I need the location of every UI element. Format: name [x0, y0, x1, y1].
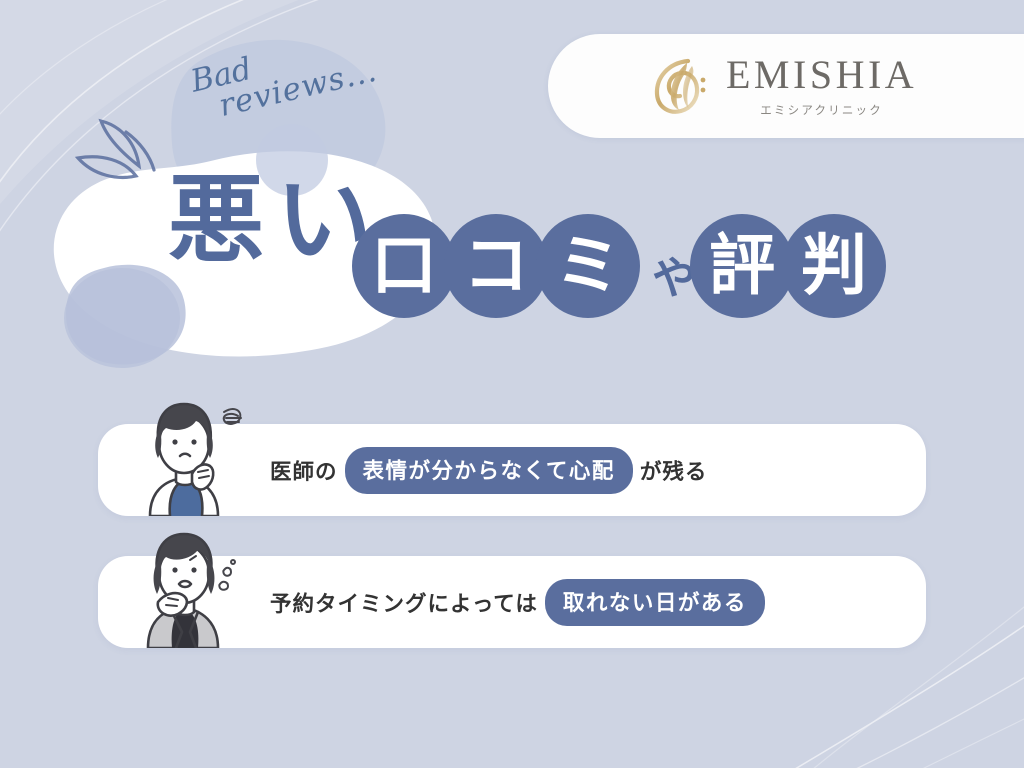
emishia-e-feather-icon [648, 54, 712, 118]
review-highlight-pill: 取れない日がある [545, 579, 765, 626]
review-text: 予約タイミングによっては 取れない日がある [270, 579, 772, 626]
title-circle-char: 判 [782, 214, 886, 318]
title-circle-char: 口 [352, 214, 456, 318]
title-circle-char: コ [444, 214, 548, 318]
page-title: 悪い 口 コ ミ や 評 判 [0, 150, 1024, 355]
title-circle-group-1: 口 コ ミ [352, 214, 628, 318]
title-circle-char: ミ [536, 214, 640, 318]
review-text-before: 医師の [270, 455, 338, 486]
review-text-before: 予約タイミングによっては [270, 587, 538, 618]
review-card: 予約タイミングによっては 取れない日がある [98, 556, 926, 648]
sweat-drop-icon [219, 560, 235, 590]
brand-logo-panel: EMISHIA エミシアクリニック [548, 34, 1024, 138]
brand-subtitle: エミシアクリニック [760, 102, 883, 118]
review-text: 医師の 表情が分からなくて心配 が残る [270, 447, 707, 494]
scribble-thought-icon [224, 409, 241, 424]
worried-person-blue-top-avatar [120, 388, 248, 516]
brand-name: EMISHIA [726, 55, 917, 95]
title-circle-group-2: 評 判 [690, 214, 874, 318]
review-text-after: が残る [640, 455, 708, 486]
title-circle-char: 評 [690, 214, 794, 318]
worried-woman-grey-jacket-avatar [120, 520, 248, 648]
review-highlight-pill: 表情が分からなくて心配 [345, 447, 633, 494]
review-card: 医師の 表情が分からなくて心配 が残る [98, 424, 926, 516]
